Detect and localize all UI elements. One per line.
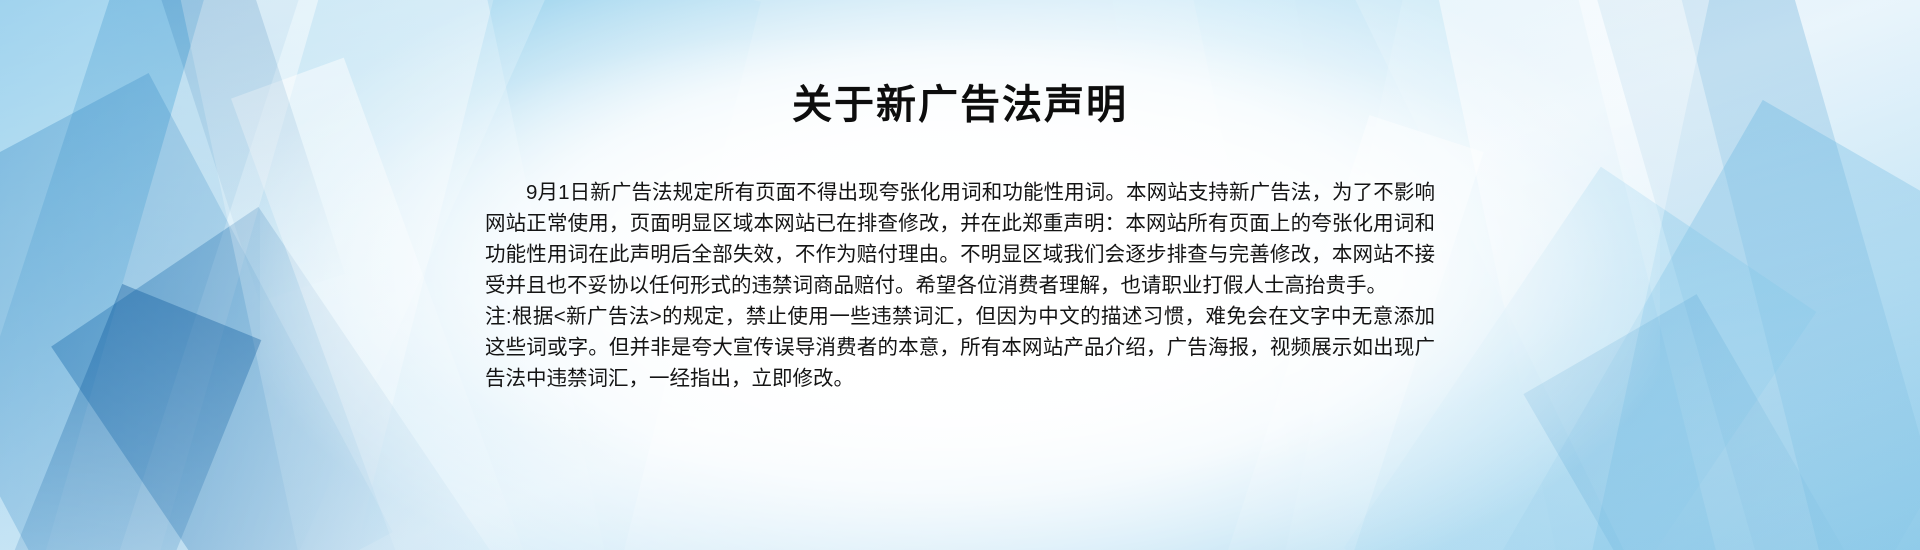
statement-text-block: 9月1日新广告法规定所有页面不得出现夸张化用词和功能性用词。本网站支持新广告法，… (485, 177, 1435, 394)
page-title: 关于新广告法声明 (792, 82, 1128, 128)
statement-paragraph-2: 注:根据<新广告法>的规定，禁止使用一些违禁词汇，但因为中文的描述习惯，难免会在… (485, 301, 1435, 394)
statement-content: 关于新广告法声明 9月1日新广告法规定所有页面不得出现夸张化用词和功能性用词。本… (0, 0, 1920, 550)
statement-paragraph-1: 9月1日新广告法规定所有页面不得出现夸张化用词和功能性用词。本网站支持新广告法，… (485, 177, 1435, 301)
advertising-law-statement-banner: 关于新广告法声明 9月1日新广告法规定所有页面不得出现夸张化用词和功能性用词。本… (0, 0, 1920, 550)
